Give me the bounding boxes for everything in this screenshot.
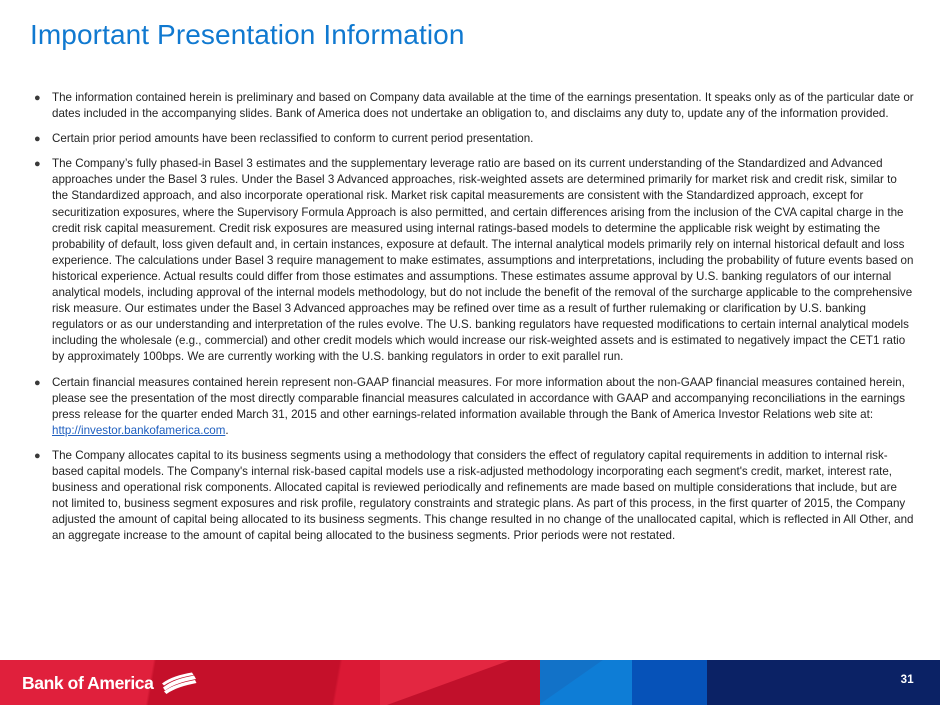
- list-item: ● Certain financial measures contained h…: [30, 375, 914, 439]
- bullet-icon: ●: [30, 156, 52, 172]
- brand-name-text: Bank of America: [22, 673, 153, 694]
- footer-red-chevron: [380, 660, 545, 705]
- list-item-text: Certain financial measures contained her…: [52, 375, 914, 439]
- list-item: ● The information contained herein is pr…: [30, 90, 914, 122]
- list-item-text: Certain prior period amounts have been r…: [52, 131, 914, 147]
- list-item: ● The Company’s fully phased-in Basel 3 …: [30, 156, 914, 365]
- list-item-text-after-link: .: [225, 424, 228, 437]
- flagscape-icon: [161, 672, 197, 695]
- bullet-icon: ●: [30, 131, 52, 147]
- list-item-text: The Company allocates capital to its bus…: [52, 448, 914, 545]
- list-item: ● Certain prior period amounts have been…: [30, 131, 914, 147]
- list-item-text-before-link: Certain financial measures contained her…: [52, 376, 905, 421]
- page-title: Important Presentation Information: [30, 18, 465, 52]
- footer-bright-blue-band: [632, 660, 707, 705]
- footer-blue-band: [540, 660, 632, 705]
- bullet-icon: ●: [30, 375, 52, 391]
- investor-relations-link[interactable]: http://investor.bankofamerica.com: [52, 424, 225, 437]
- page-number: 31: [901, 674, 914, 686]
- bullet-icon: ●: [30, 90, 52, 106]
- list-item: ● The Company allocates capital to its b…: [30, 448, 914, 545]
- bank-of-america-logo: Bank of America: [22, 669, 197, 697]
- list-item-text: The information contained herein is prel…: [52, 90, 914, 122]
- footer-banner: Bank of America 31: [0, 660, 940, 705]
- bullet-icon: ●: [30, 448, 52, 464]
- slide: Important Presentation Information ● The…: [0, 0, 940, 705]
- bullet-list: ● The information contained herein is pr…: [30, 90, 914, 553]
- list-item-text: The Company’s fully phased-in Basel 3 es…: [52, 156, 914, 365]
